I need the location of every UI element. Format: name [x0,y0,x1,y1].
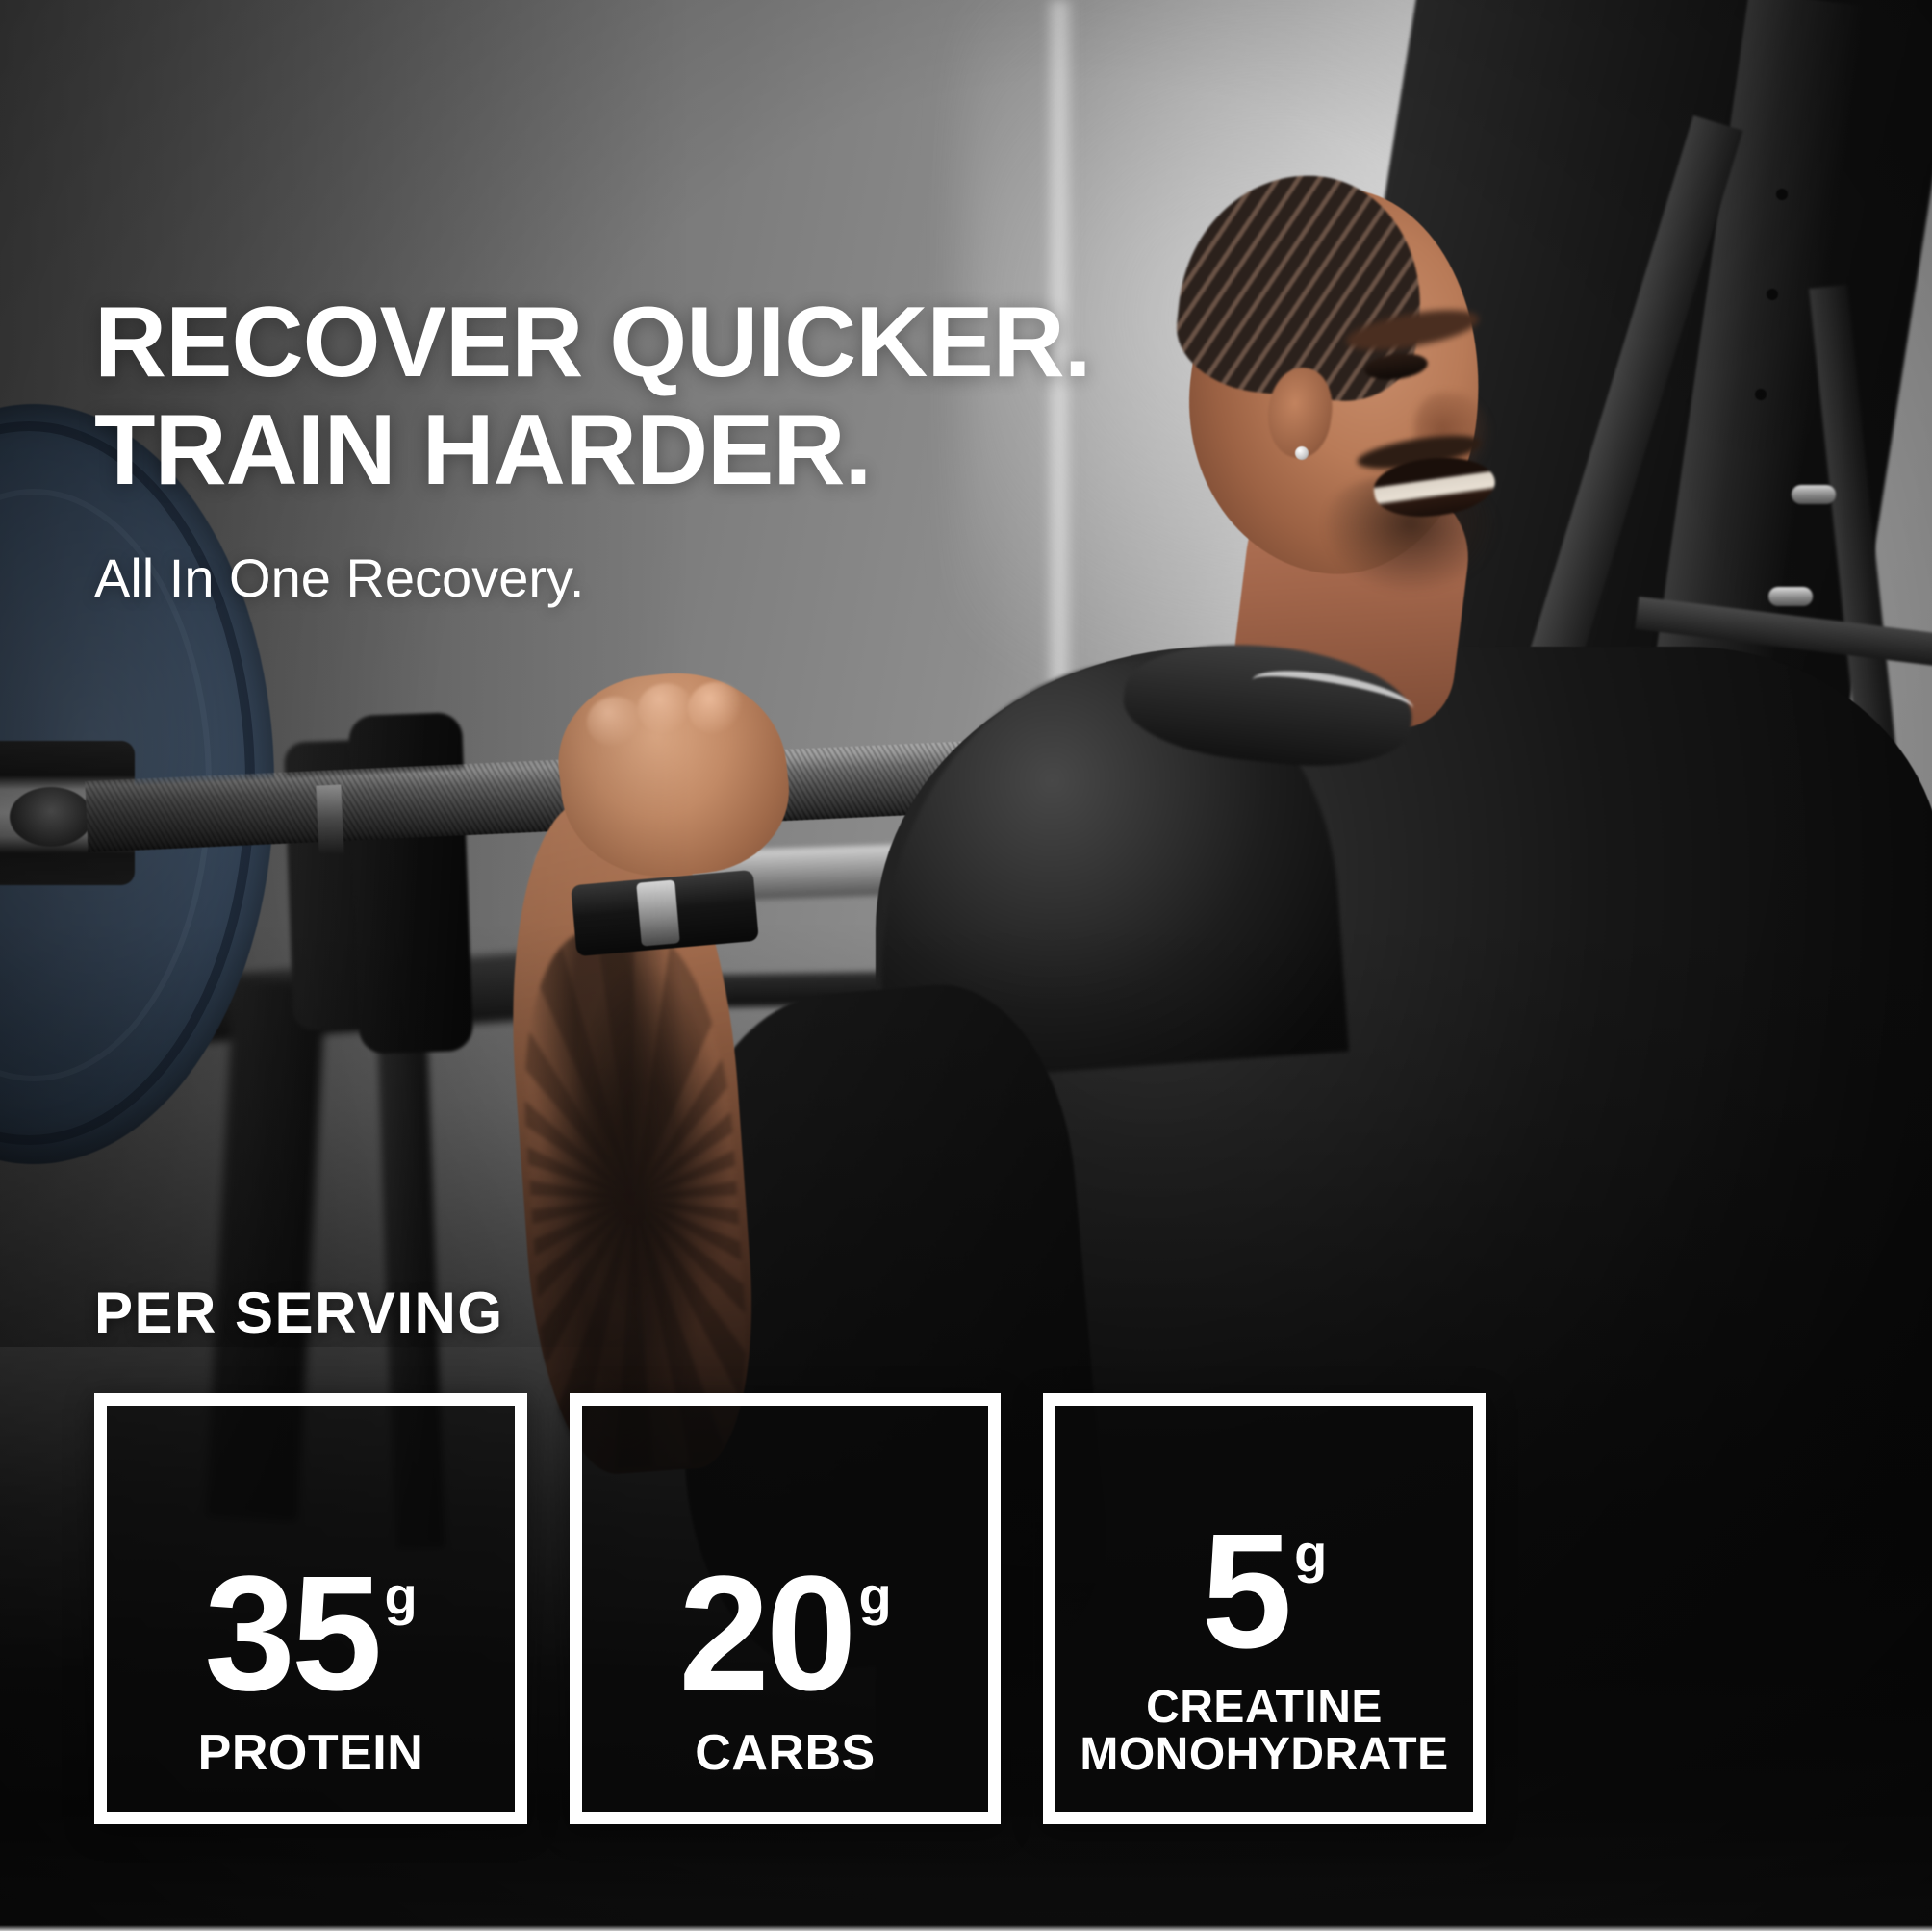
stat-label-protein: PROTEIN [198,1728,424,1779]
stat-unit-carbs: g [858,1570,891,1621]
subheading: All In One Recovery. [94,546,584,609]
headline-line-1: RECOVER QUICKER. [94,289,1345,396]
promo-image-stage: 20 KG STD 20 RECOVER QUICKER. TR [0,0,1932,1931]
stat-number-creatine: 5 [1202,1514,1289,1670]
overlay-content: RECOVER QUICKER. TRAIN HARDER. All In On… [0,0,1932,1931]
stat-box-creatine: 5 g CREATINE MONOHYDRATE [1043,1393,1486,1824]
headline-line-2: TRAIN HARDER. [94,396,1345,504]
stat-label-creatine: CREATINE MONOHYDRATE [1080,1685,1448,1779]
stat-number-carbs: 20 [678,1557,852,1713]
stat-value-creatine: 5 g [1202,1514,1328,1670]
stat-unit-creatine: g [1294,1528,1327,1579]
stat-value-carbs: 20 g [678,1557,891,1713]
stat-number-protein: 35 [204,1557,378,1713]
stat-box-protein: 35 g PROTEIN [94,1393,527,1824]
stat-box-carbs: 20 g CARBS [570,1393,1001,1824]
nutrition-stats-row: 35 g PROTEIN 20 g CARBS 5 g CREATINE MON… [94,1393,1486,1824]
stat-value-protein: 35 g [204,1557,417,1713]
stat-label-carbs: CARBS [695,1728,875,1779]
stat-unit-protein: g [384,1570,417,1621]
page-title: RECOVER QUICKER. TRAIN HARDER. [94,289,1345,505]
per-serving-label: PER SERVING [94,1280,504,1346]
